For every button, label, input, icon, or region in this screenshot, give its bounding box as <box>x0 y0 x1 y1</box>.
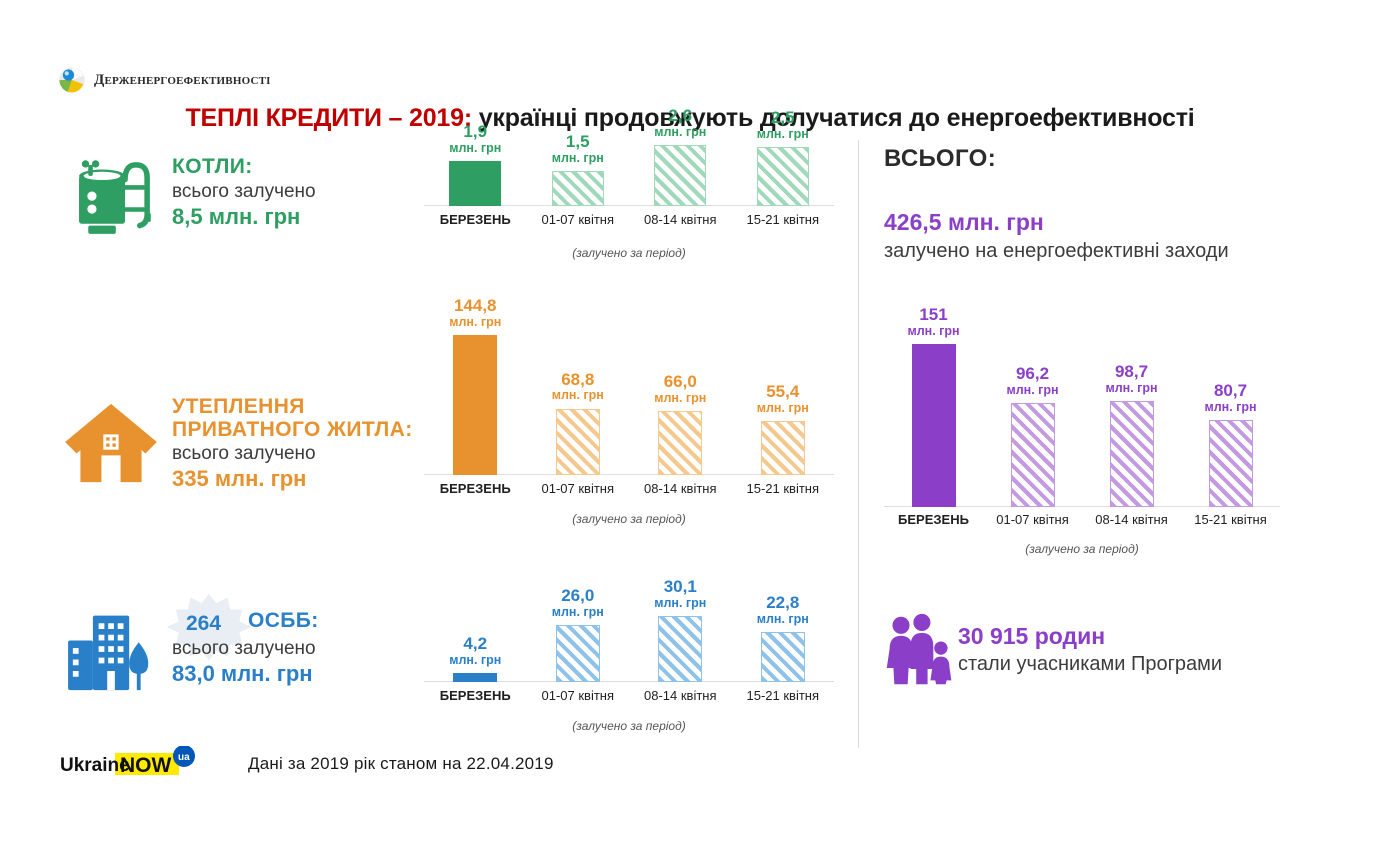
bar-unit: млн. грн <box>420 316 530 329</box>
buildings-icon <box>64 608 160 697</box>
bar-value: 151 <box>879 306 989 324</box>
chart-boilers-note: (залучено за період) <box>424 246 834 260</box>
bar-value: 2,6 <box>625 107 735 125</box>
infographic-root: Держенергоефективності ТЕПЛІ КРЕДИТИ – 2… <box>0 0 1380 850</box>
brand: Держенергоефективності <box>58 66 271 94</box>
globe-logo-icon <box>58 66 86 94</box>
bar-housing-2 <box>658 411 702 475</box>
families-text-block: 30 915 родин стали учасниками Програми <box>958 622 1358 676</box>
house-icon <box>62 400 160 491</box>
category-total-3: 15-21 квітня <box>1171 512 1291 527</box>
osbb-text-block: всього залучено 83,0 млн. грн <box>172 636 452 686</box>
bar-total-2 <box>1110 401 1154 507</box>
bar-label-boilers-3: 2,5млн. грн <box>728 109 838 141</box>
chart-boilers: 1,9млн. грн1,5млн. грн2,6млн. грн2,5млн.… <box>424 140 834 206</box>
bar-boilers-3 <box>757 147 809 206</box>
bar-unit: млн. грн <box>523 606 633 619</box>
category-boilers-3: 15-21 квітня <box>723 212 843 227</box>
bar-value: 68,8 <box>523 371 633 389</box>
bar-unit: млн. грн <box>728 402 838 415</box>
bar-label-housing-0: 144,8млн. грн <box>420 297 530 329</box>
bar-housing-0 <box>453 335 497 475</box>
bar-value: 1,5 <box>523 133 633 151</box>
housing-text-block: УТЕПЛЕННЯ ПРИВАТНОГО ЖИТЛА: всього залуч… <box>172 396 432 491</box>
bar-value: 30,1 <box>625 578 735 596</box>
housing-sub: всього залучено <box>172 443 432 465</box>
bar-value: 96,2 <box>978 365 1088 383</box>
chart-housing-categories: БЕРЕЗЕНЬ01-07 квітня08-14 квітня15-21 кв… <box>424 481 834 499</box>
housing-kicker-line2: ПРИВАТНОГО ЖИТЛА: <box>172 419 432 442</box>
bar-label-boilers-2: 2,6млн. грн <box>625 107 735 139</box>
bar-boilers-0 <box>449 161 501 206</box>
bar-label-osbb-1: 26,0млн. грн <box>523 587 633 619</box>
bar-unit: млн. грн <box>420 654 530 667</box>
osbb-total: 83,0 млн. грн <box>172 661 452 686</box>
bar-label-total-0: 151млн. грн <box>879 306 989 338</box>
bar-label-housing-1: 68,8млн. грн <box>523 371 633 403</box>
bar-label-osbb-0: 4,2млн. грн <box>420 635 530 667</box>
bar-value: 26,0 <box>523 587 633 605</box>
bar-total-0 <box>912 344 956 507</box>
category-housing-3: 15-21 квітня <box>723 481 843 496</box>
bar-label-housing-3: 55,4млн. грн <box>728 383 838 415</box>
bar-housing-3 <box>761 421 805 475</box>
boiler-icon <box>68 152 160 249</box>
bar-label-osbb-3: 22,8млн. грн <box>728 594 838 626</box>
bar-unit: млн. грн <box>625 126 735 139</box>
ukraine-now-logo: Ukraine NOW ua <box>58 746 208 780</box>
bar-unit: млн. грн <box>420 142 530 155</box>
bar-total-3 <box>1209 420 1253 507</box>
chart-housing: 144,8млн. грн68,8млн. грн66,0млн. грн55,… <box>424 330 834 475</box>
housing-total: 335 млн. грн <box>172 466 432 491</box>
bar-label-total-1: 96,2млн. грн <box>978 365 1088 397</box>
housing-kicker-line1: УТЕПЛЕННЯ <box>172 396 432 419</box>
boilers-text-block: КОТЛИ: всього залучено 8,5 млн. грн <box>172 156 422 229</box>
footer-note: Дані за 2019 рік станом на 22.04.2019 <box>248 754 554 774</box>
osbb-badge-count: 264 <box>186 612 221 636</box>
bar-unit: млн. грн <box>1077 382 1187 395</box>
bar-label-boilers-1: 1,5млн. грн <box>523 133 633 165</box>
bar-label-total-2: 98,7млн. грн <box>1077 363 1187 395</box>
total-sub: залучено на енергоефективні заходи <box>884 240 1344 263</box>
bar-boilers-2 <box>654 145 706 206</box>
category-osbb-3: 15-21 квітня <box>723 688 843 703</box>
bar-value: 66,0 <box>625 373 735 391</box>
bar-unit: млн. грн <box>523 152 633 165</box>
chart-osbb-categories: БЕРЕЗЕНЬ01-07 квітня08-14 квітня15-21 кв… <box>424 688 834 706</box>
chart-total-note: (залучено за період) <box>884 542 1280 556</box>
bar-value: 98,7 <box>1077 363 1187 381</box>
total-amount-block: 426,5 млн. грн залучено на енергоефектив… <box>884 208 1344 263</box>
bar-label-boilers-0: 1,9млн. грн <box>420 123 530 155</box>
bar-unit: млн. грн <box>728 128 838 141</box>
bar-value: 22,8 <box>728 594 838 612</box>
bar-label-total-3: 80,7млн. грн <box>1176 382 1286 414</box>
svg-text:NOW: NOW <box>120 754 172 777</box>
bar-label-housing-2: 66,0млн. грн <box>625 373 735 405</box>
bar-value: 2,5 <box>728 109 838 127</box>
bar-osbb-3 <box>761 632 805 682</box>
boilers-total: 8,5 млн. грн <box>172 204 422 229</box>
bar-unit: млн. грн <box>728 613 838 626</box>
osbb-sub: всього залучено <box>172 638 452 660</box>
bar-unit: млн. грн <box>879 325 989 338</box>
bar-unit: млн. грн <box>523 389 633 402</box>
chart-total: 151млн. грн96,2млн. грн98,7млн. грн80,7м… <box>884 340 1280 507</box>
chart-total-categories: БЕРЕЗЕНЬ01-07 квітня08-14 квітня15-21 кв… <box>884 512 1280 530</box>
bar-osbb-0 <box>453 673 497 682</box>
bar-unit: млн. грн <box>1176 401 1286 414</box>
family-icon <box>882 612 958 693</box>
brand-name: Держенергоефективності <box>94 72 271 89</box>
boilers-sub: всього залучено <box>172 181 422 203</box>
bar-value: 144,8 <box>420 297 530 315</box>
bar-housing-1 <box>556 409 600 476</box>
families-count: 30 915 родин <box>958 623 1358 649</box>
bar-unit: млн. грн <box>978 384 1088 397</box>
bar-value: 55,4 <box>728 383 838 401</box>
chart-housing-note: (залучено за період) <box>424 512 834 526</box>
bar-total-1 <box>1011 403 1055 507</box>
bar-osbb-2 <box>658 616 702 682</box>
chart-boilers-categories: БЕРЕЗЕНЬ01-07 квітня08-14 квітня15-21 кв… <box>424 212 834 230</box>
svg-text:ua: ua <box>178 752 190 763</box>
bar-unit: млн. грн <box>625 392 735 405</box>
chart-osbb-note: (залучено за період) <box>424 719 834 733</box>
total-text-block: ВСЬОГО: <box>884 146 1324 172</box>
bar-value: 4,2 <box>420 635 530 653</box>
bar-boilers-1 <box>552 171 604 206</box>
bar-label-osbb-2: 30,1млн. грн <box>625 578 735 610</box>
chart-osbb: 4,2млн. грн26,0млн. грн30,1млн. грн22,8м… <box>424 612 834 682</box>
total-kicker: ВСЬОГО: <box>884 146 1324 172</box>
bar-unit: млн. грн <box>625 597 735 610</box>
column-divider <box>858 140 859 748</box>
boilers-kicker: КОТЛИ: <box>172 156 422 179</box>
bar-value: 1,9 <box>420 123 530 141</box>
families-sub: стали учасниками Програми <box>958 653 1358 676</box>
total-amount: 426,5 млн. грн <box>884 209 1344 235</box>
bar-osbb-1 <box>556 625 600 682</box>
bar-value: 80,7 <box>1176 382 1286 400</box>
